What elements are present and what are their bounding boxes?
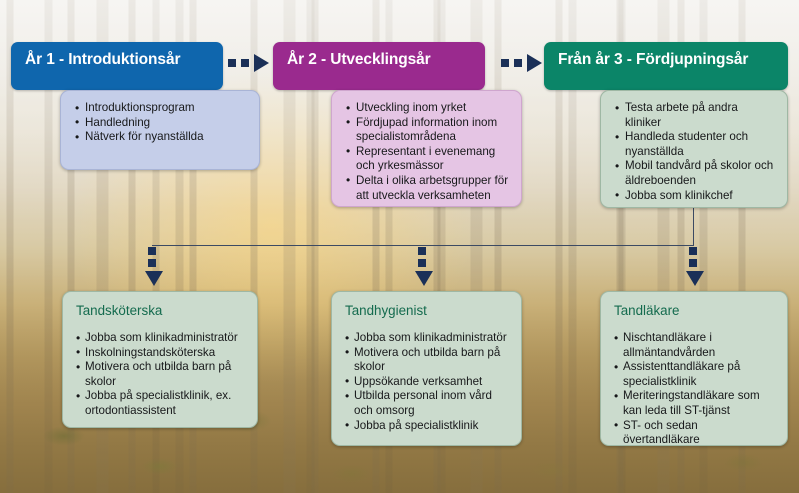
list-item: Assistenttandläkare på specialistklinik <box>614 360 777 389</box>
list-item: Handledning <box>75 116 247 131</box>
phase-header-year-2[interactable]: År 2 - Utvecklingsår <box>273 42 485 90</box>
list-item: Handleda studenter och nyanställda <box>615 130 775 159</box>
dash-segment <box>501 59 509 67</box>
list-item: Jobba på specialistklinik <box>345 419 511 434</box>
phase-header-label: År 2 - Utvecklingsår <box>287 51 431 68</box>
list-item: Motivera och utbilda barn på skolor <box>76 360 247 389</box>
arrow-head-right-icon <box>527 54 542 72</box>
role-title: Tandläkare <box>614 303 777 318</box>
phase-card-list: Introduktionsprogram Handledning Nätverk… <box>75 101 247 145</box>
phase-header-year-3[interactable]: Från år 3 - Fördjupningsår <box>544 42 788 90</box>
phase-card-year-1: Introduktionsprogram Handledning Nätverk… <box>60 90 260 170</box>
role-card-list: Jobba som klinikadministratör Motivera o… <box>345 331 511 433</box>
dash-segment <box>148 247 156 255</box>
arrow-head-down-icon <box>145 271 163 286</box>
role-title: Tandhygienist <box>345 303 511 318</box>
dash-segment <box>689 259 697 267</box>
list-item: Jobba som klinikchef <box>615 189 775 204</box>
list-item: Jobba på specialistklinik, ex. ortodonti… <box>76 389 247 418</box>
phase-card-year-3: Testa arbete på andra kliniker Handleda … <box>600 90 788 208</box>
dash-segment <box>241 59 249 67</box>
list-item: Inskolningstandsköterska <box>76 346 247 361</box>
list-item: Representant i evenemang och yrkesmässor <box>346 145 509 174</box>
role-title: Tandsköterska <box>76 303 247 318</box>
phase-card-list: Testa arbete på andra kliniker Handleda … <box>615 101 775 203</box>
phase-card-list: Utveckling inom yrket Fördjupad informat… <box>346 101 509 203</box>
role-card-tandhygienist: Tandhygienist Jobba som klinikadministra… <box>331 291 522 446</box>
dash-segment <box>689 247 697 255</box>
list-item: Utveckling inom yrket <box>346 101 509 116</box>
dash-segment <box>228 59 236 67</box>
phase-header-label: År 1 - Introduktionsår <box>25 51 180 68</box>
dash-segment <box>514 59 522 67</box>
list-item: Mobil tandvård på skolor och äldreboende… <box>615 159 775 188</box>
arrow-head-right-icon <box>254 54 269 72</box>
phase-header-year-1[interactable]: År 1 - Introduktionsår <box>11 42 223 90</box>
arrow-head-down-icon <box>415 271 433 286</box>
dash-segment <box>418 247 426 255</box>
branch-arrow-tandlakare <box>686 247 700 286</box>
phase-header-label: Från år 3 - Fördjupningsår <box>558 51 748 68</box>
list-item: Utbilda personal inom vård och omsorg <box>345 389 511 418</box>
flow-arrow-phase1-to-phase2 <box>228 54 269 72</box>
list-item: Jobba som klinikadministratör <box>345 331 511 346</box>
connector-horizontal-bus <box>152 245 694 246</box>
role-card-list: Jobba som klinikadministratör Inskolning… <box>76 331 247 419</box>
list-item: Delta i olika arbetsgrupper för att utve… <box>346 174 509 203</box>
dash-segment <box>418 259 426 267</box>
arrow-head-down-icon <box>686 271 704 286</box>
role-card-tandskoterska: Tandsköterska Jobba som klinikadministra… <box>62 291 258 428</box>
list-item: Uppsökande verksamhet <box>345 375 511 390</box>
diagram-canvas: År 1 - Introduktionsår Introduktionsprog… <box>0 0 799 493</box>
dash-segment <box>148 259 156 267</box>
list-item: ST- och sedan övertandläkare <box>614 419 777 448</box>
role-card-tandlakare: Tandläkare Nischtandläkare i allmäntandv… <box>600 291 788 446</box>
branch-arrow-tandskoterska <box>145 247 159 286</box>
flow-arrow-phase2-to-phase3 <box>501 54 542 72</box>
branch-arrow-tandhygienist <box>415 247 429 286</box>
list-item: Testa arbete på andra kliniker <box>615 101 775 130</box>
phase-card-year-2: Utveckling inom yrket Fördjupad informat… <box>331 90 522 207</box>
list-item: Motivera och utbilda barn på skolor <box>345 346 511 375</box>
role-card-list: Nischtandläkare i allmäntandvården Assis… <box>614 331 777 448</box>
list-item: Jobba som klinikadministratör <box>76 331 247 346</box>
list-item: Meriteringstandläkare som kan leda till … <box>614 389 777 418</box>
list-item: Introduktionsprogram <box>75 101 247 116</box>
list-item: Fördjupad information inom specialistomr… <box>346 116 509 145</box>
list-item: Nischtandläkare i allmäntandvården <box>614 331 777 360</box>
connector-vertical-from-phase3 <box>693 208 694 246</box>
list-item: Nätverk för nyanställda <box>75 130 247 145</box>
